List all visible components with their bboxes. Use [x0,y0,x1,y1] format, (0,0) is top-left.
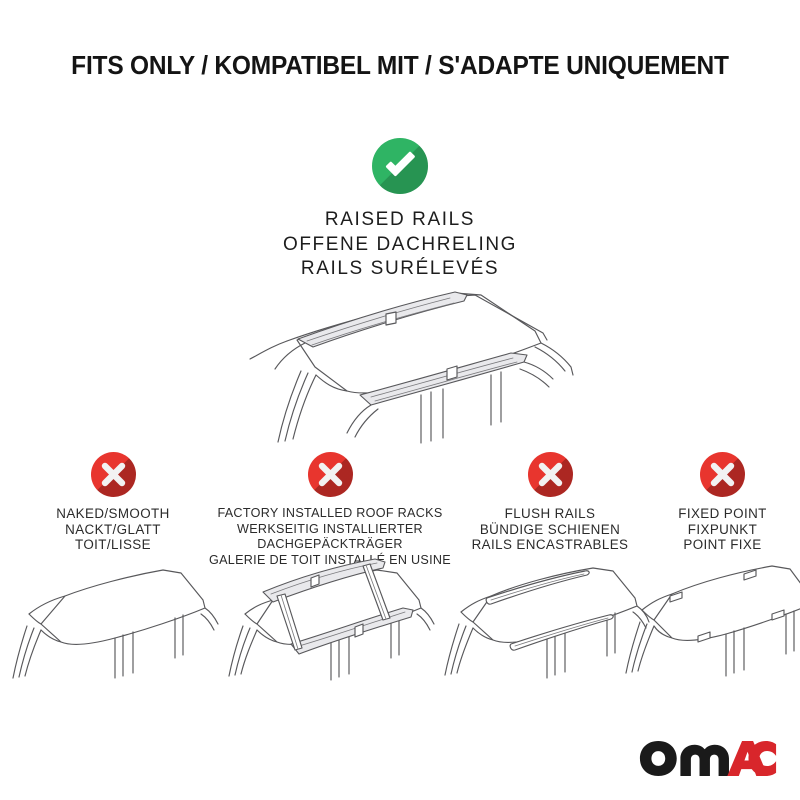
x-circle-icon [308,452,353,497]
label-de: NACKT/GLATT [23,522,203,538]
compatible-label-en: RAISED RAILS [0,208,800,233]
compatible-label-de: OFFENE DACHRELING [0,233,800,258]
incompatible-labels: FIXED POINT FIXPUNKT POINT FIXE [645,506,800,553]
label-en: FIXED POINT [645,506,800,522]
label-fr: TOIT/LISSE [23,537,203,553]
label-fr: RAILS ENCASTRABLES [455,537,645,553]
incompatible-item-naked-smooth: NAKED/SMOOTH NACKT/GLATT TOIT/LISSE [23,452,203,553]
label-de: WERKSEITIG INSTALLIERTER [205,522,455,538]
fitment-infographic: FITS ONLY / KOMPATIBEL MIT / S'ADAPTE UN… [0,0,800,800]
label-de: FIXPUNKT [645,522,800,538]
incompatible-labels: NAKED/SMOOTH NACKT/GLATT TOIT/LISSE [23,506,203,553]
car-roof-factory-rack-illustration [215,548,450,683]
x-circle-icon [700,452,745,497]
compatible-label-fr: RAILS SURÉLEVÉS [0,257,800,282]
car-roof-raised-rails-illustration [175,283,635,458]
omac-logo [639,739,777,778]
header: FITS ONLY / KOMPATIBEL MIT / S'ADAPTE UN… [0,52,800,81]
label-en: NAKED/SMOOTH [23,506,203,522]
car-roof-flush-rails-illustration [435,552,650,683]
x-circle-icon [91,452,136,497]
car-roof-naked-smooth-illustration [5,558,220,683]
label-en: FLUSH RAILS [455,506,645,522]
check-circle-icon [372,138,428,194]
label-de: BÜNDIGE SCHIENEN [455,522,645,538]
label-en: FACTORY INSTALLED ROOF RACKS [205,506,455,522]
incompatible-item-flush-rails: FLUSH RAILS BÜNDIGE SCHIENEN RAILS ENCAS… [455,452,645,553]
car-roof-fixed-point-illustration [620,552,800,683]
compatible-labels: RAISED RAILS OFFENE DACHRELING RAILS SUR… [0,208,800,282]
compatible-block: RAISED RAILS OFFENE DACHRELING RAILS SUR… [0,138,800,282]
page-title: FITS ONLY / KOMPATIBEL MIT / S'ADAPTE UN… [16,52,784,81]
label-fr: POINT FIXE [645,537,800,553]
incompatible-labels: FLUSH RAILS BÜNDIGE SCHIENEN RAILS ENCAS… [455,506,645,553]
x-circle-icon [528,452,573,497]
incompatible-item-fixed-point: FIXED POINT FIXPUNKT POINT FIXE [645,452,800,553]
